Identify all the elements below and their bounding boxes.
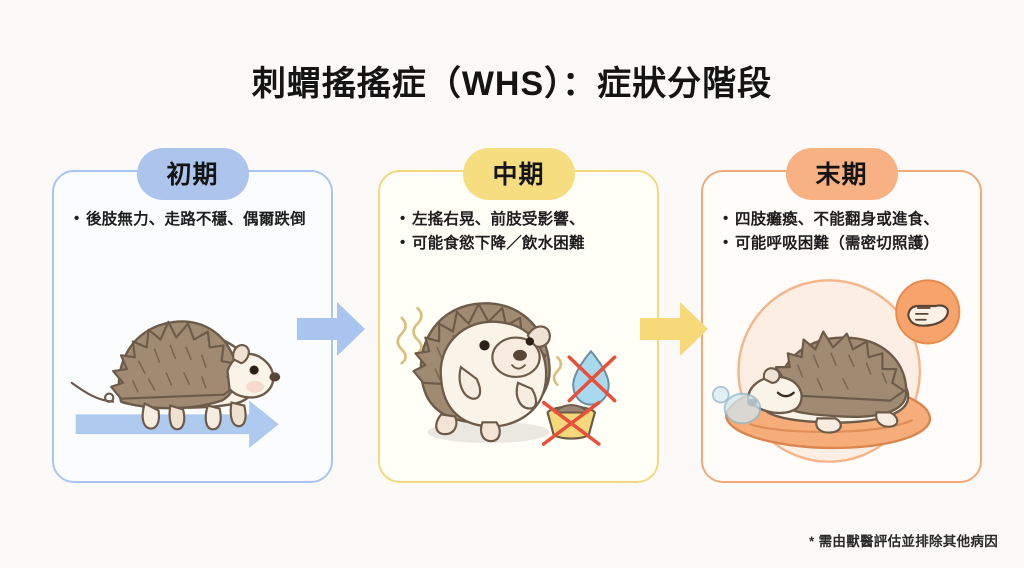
bullet-dot-icon: •: [74, 208, 86, 231]
stage-panel-early: 初期 • 後肢無力、走路不穩、偶爾跌倒: [52, 170, 333, 483]
caring-hand-badge-icon: [896, 280, 959, 343]
bullet-item: • 左搖右晃、前肢受影響、: [400, 208, 645, 231]
bullet-dot-icon: •: [400, 208, 412, 231]
bullet-item: • 可能食慾下降／飲水困難: [400, 232, 645, 255]
bullet-text: 左搖右晃、前肢受影響、: [412, 208, 645, 231]
illustration-hedgehog-resting: [703, 275, 980, 475]
crossed-food-bowl-icon: [544, 403, 599, 444]
bullet-dot-icon: •: [723, 208, 735, 231]
bullet-item: • 四肢癱瘓、不能翻身或進食、: [723, 208, 968, 231]
stage-panel-late: 末期 • 四肢癱瘓、不能翻身或進食、 • 可能呼吸困難（需密切照護）: [701, 170, 982, 483]
illustration-hedgehog-walking: [54, 275, 331, 475]
arrow-early-to-middle: [295, 298, 367, 360]
bullet-text: 可能食慾下降／飲水困難: [412, 232, 645, 255]
stage-label-early: 初期: [136, 148, 248, 200]
stage-panel-middle: 中期 • 左搖右晃、前肢受影響、 • 可能食慾下降／飲水困難: [378, 170, 659, 483]
wobble-squiggle-icon: [72, 383, 114, 402]
bullet-text: 可能呼吸困難（需密切照護）: [735, 232, 968, 255]
stage-label-late: 末期: [785, 148, 897, 200]
bullet-text: 四肢癱瘓、不能翻身或進食、: [735, 208, 968, 231]
bullet-item: • 後肢無力、走路不穩、偶爾跌倒: [74, 208, 319, 231]
stage-label-middle: 中期: [462, 148, 574, 200]
wobble-lines-icon: [554, 357, 561, 385]
crossed-water-drop-icon: [569, 351, 614, 404]
bullet-text: 後肢無力、走路不穩、偶爾跌倒: [86, 208, 319, 231]
illustration-hedgehog-wobbling: [380, 275, 657, 475]
bullet-item: • 可能呼吸困難（需密切照護）: [723, 232, 968, 255]
stage-bullets-middle: • 左搖右晃、前肢受影響、 • 可能食慾下降／飲水困難: [400, 208, 645, 257]
bullet-dot-icon: •: [723, 232, 735, 255]
footnote-text: * 需由獸醫評估並排除其他病因: [809, 530, 998, 550]
stage-bullets-late: • 四肢癱瘓、不能翻身或進食、 • 可能呼吸困難（需密切照護）: [723, 208, 968, 257]
stage-bullets-early: • 後肢無力、走路不穩、偶爾跌倒: [74, 208, 319, 232]
bullet-dot-icon: •: [400, 232, 412, 255]
page-title: 刺蝟搖搖症（WHS）：症狀分階段: [0, 56, 1024, 105]
stages-container: 初期 • 後肢無力、走路不穩、偶爾跌倒: [0, 170, 1024, 485]
hedgehog-front-view: [414, 303, 550, 441]
arrow-middle-to-late: [638, 298, 710, 360]
